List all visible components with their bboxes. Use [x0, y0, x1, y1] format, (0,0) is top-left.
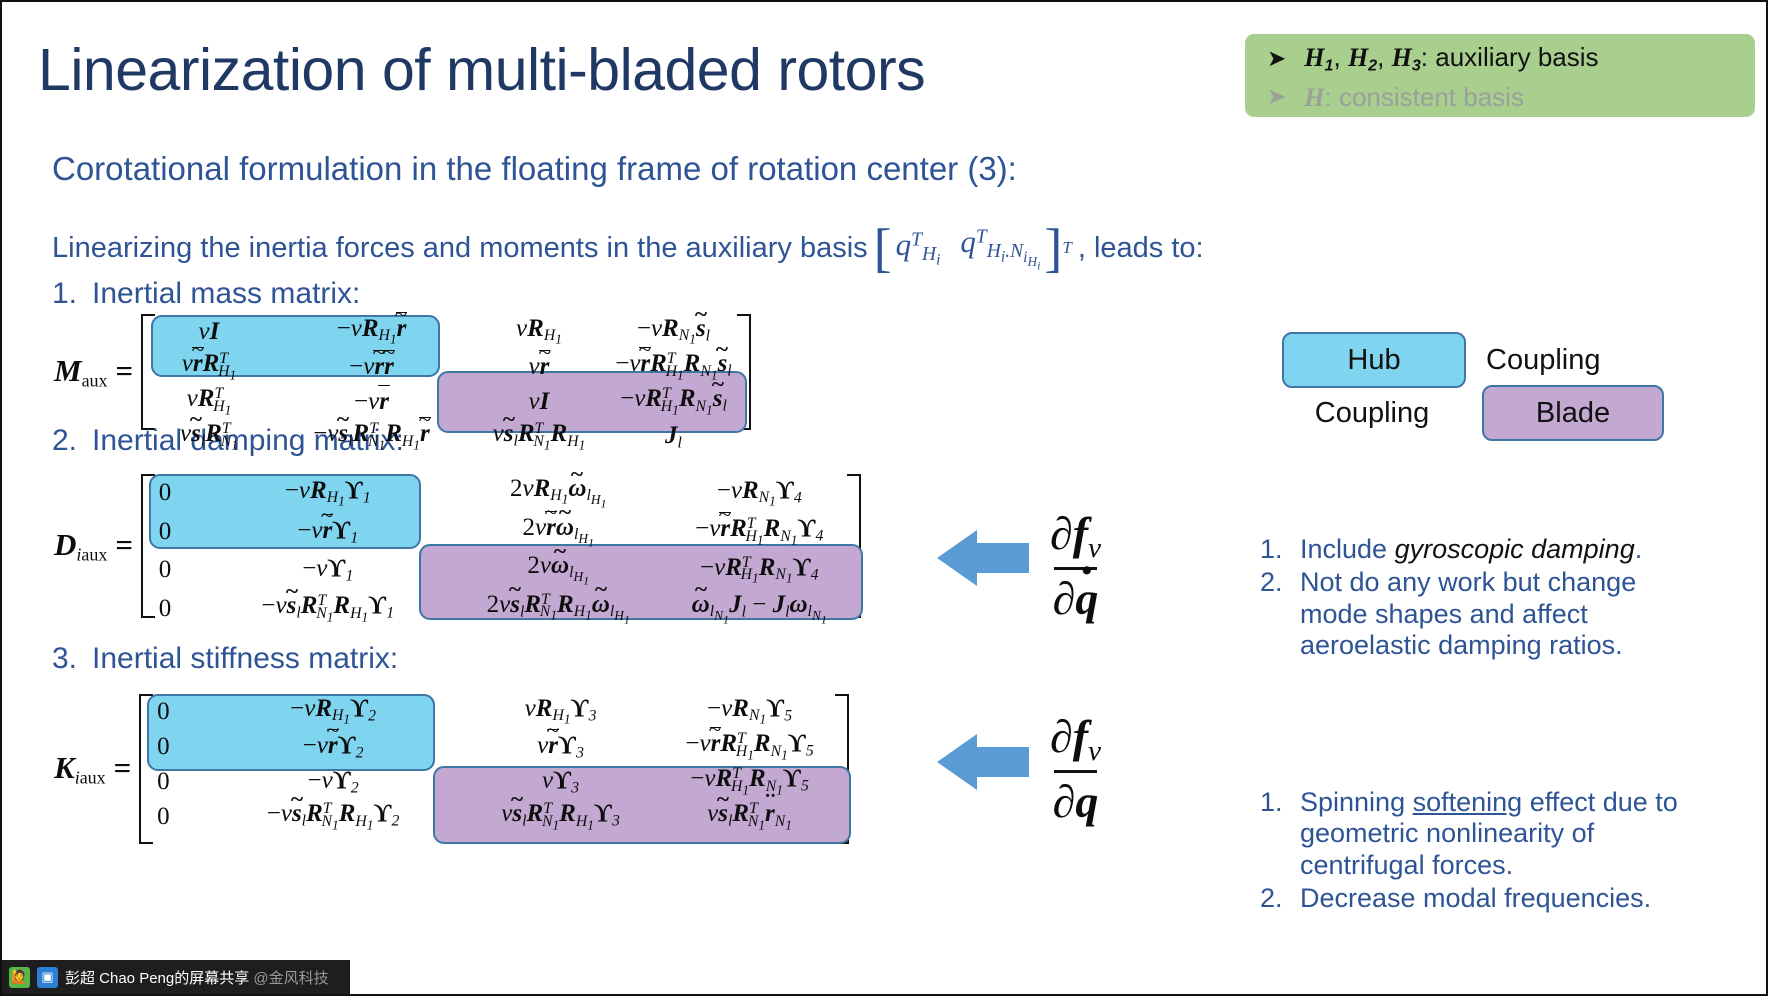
note-number: 2. — [1260, 567, 1290, 661]
slide-canvas: Linearization of multi-bladed rotors ➤ H… — [0, 0, 1768, 996]
screen-share-icon[interactable]: 🙋 — [9, 967, 30, 988]
equation-damping-matrix: Diaux = 0 −νRH1ϒ1 2νRH1ωlH1 −νRN1ϒ4 0 −ν… — [54, 474, 861, 618]
equation-mass-matrix: Maux = νI −νRH1r νRH1 −νRN1sl νrRTH1 −νr… — [54, 314, 751, 430]
derivative-damping: ∂fv ∂q — [1050, 507, 1101, 625]
note-text: Include gyroscopic damping. — [1300, 534, 1642, 565]
table-row: 0 −νslRTN1RH1ϒ1 2νslRTN1RH1ωlH1 ωlN1Jl −… — [149, 590, 853, 629]
mass-matrix-body: νI −νRH1r νRH1 −νRN1sl νrRTH1 −νrr νr −ν… — [141, 314, 751, 430]
table-row: 0 −νrϒ2 νrϒ3 −νrRTH1RN1ϒ5 — [147, 729, 841, 764]
arrow-head — [937, 734, 977, 790]
section-heading-stiffness: 3.Inertial stiffness matrix: — [52, 642, 398, 676]
derivative-stiffness: ∂fv ∂q — [1050, 710, 1101, 828]
damping-matrix-table: 0 −νRH1ϒ1 2νRH1ωlH1 −νRN1ϒ4 0 −νrϒ1 2νrω… — [149, 474, 853, 628]
bullet-arrow-icon: ➤ — [1267, 86, 1286, 109]
equation-stiffness-matrix: Kiaux = 0 −νRH1ϒ2 νRH1ϒ3 −νRN1ϒ5 0 −νrϒ2… — [54, 694, 849, 844]
callout-item-auxiliary: ➤ H1, H2, H3: auxiliary basis — [1245, 40, 1755, 78]
legend-chip-blade: Blade — [1482, 385, 1664, 441]
screen-share-taskbar[interactable]: 🙋 ▣ 彭超 Chao Peng的屏幕共享 @金风科技 — [2, 960, 350, 994]
table-row: 0 −νRH1ϒ1 2νRH1ωlH1 −νRN1ϒ4 — [149, 474, 853, 513]
callout-item-consistent: ➤ H: consistent basis — [1245, 78, 1755, 116]
arrow-left-damping-icon — [937, 530, 1029, 586]
table-row: νRTH1 −νr νI −νRTH1RN1sl — [149, 384, 743, 419]
callout-text-consistent: H: consistent basis — [1304, 82, 1524, 113]
legend-chip-hub: Hub — [1282, 332, 1466, 388]
note-text: Spinning softening effect due to geometr… — [1300, 787, 1700, 881]
table-row: 0 −νϒ2 νϒ3 −νRTH1RN1ϒ5 — [147, 764, 841, 799]
mass-matrix-lhs: Maux = — [54, 353, 133, 391]
list-item: 1. Include gyroscopic damping. — [1260, 534, 1700, 565]
note-text: Decrease modal frequencies. — [1300, 883, 1651, 914]
table-row: 0 −νϒ1 2νωlH1 −νRTH1RN1ϒ4 — [149, 551, 853, 590]
arrow-left-stiffness-icon — [937, 734, 1029, 790]
legend-row-bottom: Coupling Blade — [1282, 385, 1664, 441]
table-row: 0 −νrϒ1 2νrωlH1 −νrRTH1RN1ϒ4 — [149, 513, 853, 552]
arrow-head — [937, 530, 977, 586]
camera-icon[interactable]: ▣ — [37, 967, 58, 988]
table-row: 0 −νslRTN1RH1ϒ2 νslRTN1RH1ϒ3 νslRTN1rN1 — [147, 799, 841, 834]
list-item: 2. Not do any work but change mode shape… — [1260, 567, 1700, 661]
damping-matrix-lhs: Diaux = — [54, 527, 133, 565]
derivative-denominator: ∂q — [1050, 572, 1101, 625]
arrow-shaft — [973, 747, 1029, 777]
list-item: 1. Spinning softening effect due to geom… — [1260, 787, 1700, 881]
linearizing-prefix: Linearizing the inertia forces and momen… — [52, 232, 868, 265]
note-number: 1. — [1260, 534, 1290, 565]
legend-label-coupling-bottom: Coupling — [1282, 397, 1462, 430]
stiffness-matrix-lhs: Kiaux = — [54, 750, 131, 788]
table-row: 0 −νRH1ϒ2 νRH1ϒ3 −νRN1ϒ5 — [147, 694, 841, 729]
legend-row-top: Hub Coupling — [1282, 332, 1664, 388]
linearizing-line: Linearizing the inertia forces and momen… — [52, 224, 1204, 273]
derivative-denominator: ∂q — [1050, 775, 1101, 828]
note-number: 1. — [1260, 787, 1290, 881]
color-legend: Hub Coupling Coupling Blade — [1282, 332, 1664, 441]
note-text: Not do any work but change mode shapes a… — [1300, 567, 1700, 661]
list-item: 2. Decrease modal frequencies. — [1260, 883, 1700, 914]
derivative-numerator: ∂fv — [1050, 710, 1101, 768]
page-title: Linearization of multi-bladed rotors — [38, 36, 925, 104]
notes-stiffness: 1. Spinning softening effect due to geom… — [1260, 787, 1700, 916]
bullet-arrow-icon: ➤ — [1267, 48, 1286, 71]
aux-basis-vector: [ qTHi qTHi.NiHi ]T — [874, 224, 1072, 273]
arrow-shaft — [973, 543, 1029, 573]
table-row: νslRTN1 −νslRTN1RH1r νslRTN1RH1 Jl — [149, 419, 743, 454]
stiffness-matrix-body: 0 −νRH1ϒ2 νRH1ϒ3 −νRN1ϒ5 0 −νrϒ2 νrϒ3 −ν… — [139, 694, 849, 844]
auxiliary-basis-callout: ➤ H1, H2, H3: auxiliary basis ➤ H: consi… — [1245, 34, 1755, 117]
stiffness-matrix-table: 0 −νRH1ϒ2 νRH1ϒ3 −νRN1ϒ5 0 −νrϒ2 νrϒ3 −ν… — [147, 694, 841, 835]
section-subhead: Corotational formulation in the floating… — [52, 150, 1017, 188]
table-row: νI −νRH1r νRH1 −νRN1sl — [149, 314, 743, 349]
legend-label-coupling-top: Coupling — [1486, 344, 1600, 377]
note-number: 2. — [1260, 883, 1290, 914]
callout-text-auxiliary: H1, H2, H3: auxiliary basis — [1304, 42, 1598, 76]
linearizing-suffix: , leads to: — [1078, 232, 1204, 265]
mass-matrix-table: νI −νRH1r νRH1 −νRN1sl νrRTH1 −νrr νr −ν… — [149, 314, 743, 455]
section-heading-mass: 1.Inertial mass matrix: — [52, 277, 360, 311]
share-org-text: @金风科技 — [253, 970, 328, 987]
notes-damping: 1. Include gyroscopic damping. 2. Not do… — [1260, 534, 1700, 663]
table-row: νrRTH1 −νrr νr −νrRTH1RN1sl — [149, 349, 743, 384]
fraction-rule — [1054, 770, 1097, 773]
share-status-text: 彭超 Chao Peng的屏幕共享 @金风科技 — [65, 967, 329, 988]
damping-matrix-body: 0 −νRH1ϒ1 2νRH1ωlH1 −νRN1ϒ4 0 −νrϒ1 2νrω… — [141, 474, 861, 618]
